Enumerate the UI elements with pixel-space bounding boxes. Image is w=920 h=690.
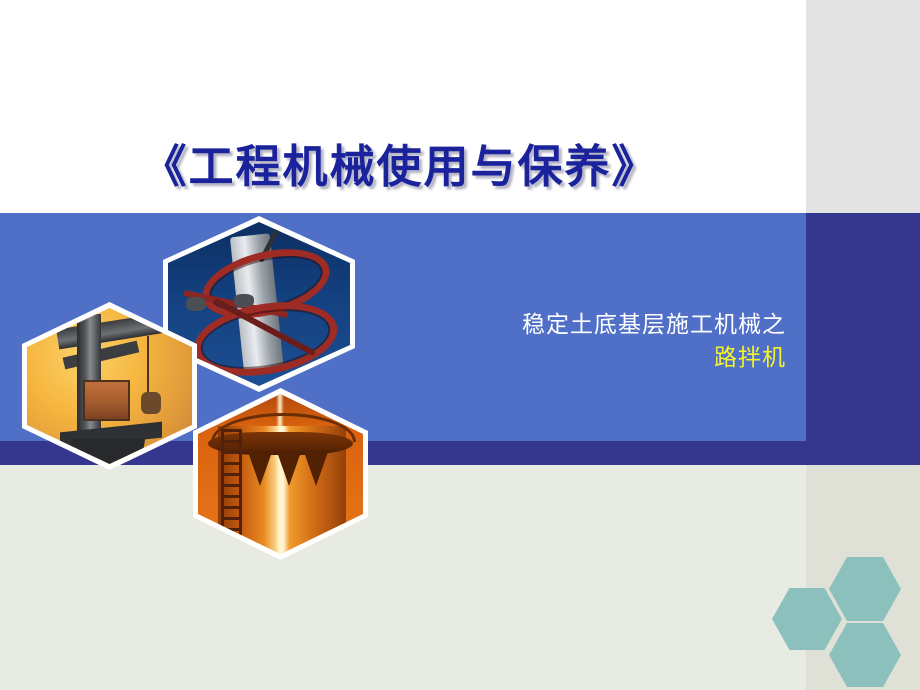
- tower-crane-sunset-photo-image: [27, 308, 192, 464]
- presentation-slide: 《工程机械使用与保养》 稳定土底基层施工机械之 路拌机: [0, 0, 920, 690]
- tower-equipment-left: [186, 297, 206, 310]
- subtitle-line-2: 路拌机: [366, 341, 786, 374]
- silo-brace-2: [277, 452, 301, 486]
- page-title: 《工程机械使用与保养》: [0, 140, 800, 194]
- right-dark-blue-panel: [806, 213, 920, 465]
- crane-cab: [83, 380, 130, 421]
- subtitle: 稳定土底基层施工机械之 路拌机: [366, 308, 786, 375]
- crane-cable: [147, 336, 149, 395]
- subtitle-line-1: 稳定土底基层施工机械之: [366, 308, 786, 341]
- silo-brace-1: [248, 452, 272, 486]
- top-right-grey-panel: [806, 0, 920, 213]
- crane-hook: [141, 392, 161, 414]
- bottom-background: [0, 465, 920, 690]
- silo-brace-3: [304, 452, 328, 486]
- orange-silo-photo-image: [198, 394, 363, 554]
